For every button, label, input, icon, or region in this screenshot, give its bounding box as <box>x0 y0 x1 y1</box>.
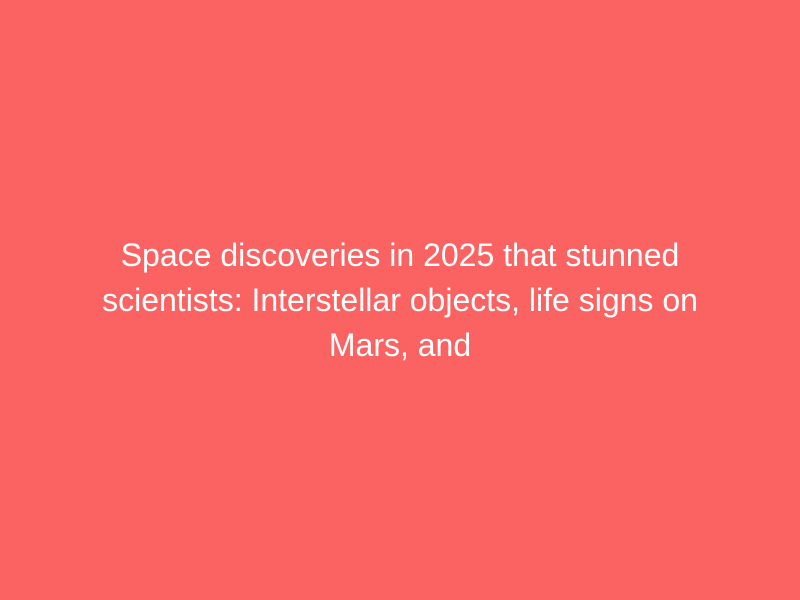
headline-container: Space discoveries in 2025 that stunned s… <box>80 233 720 368</box>
share-card: Space discoveries in 2025 that stunned s… <box>0 0 800 600</box>
page-title: Space discoveries in 2025 that stunned s… <box>80 233 720 368</box>
